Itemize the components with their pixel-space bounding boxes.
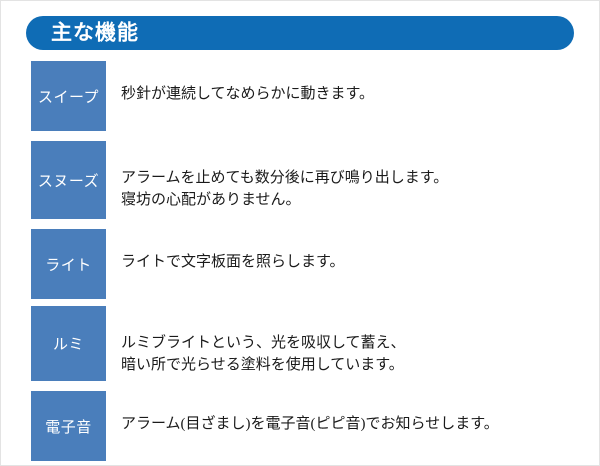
feature-label-badge: ライト (31, 229, 106, 299)
page-title: 主な機能 (51, 23, 139, 44)
feature-row: スイープ秒針が連続してなめらかに動きます。 (1, 61, 600, 141)
feature-label-badge: ルミ (31, 306, 106, 381)
feature-description-line: 秒針が連続してなめらかに動きます。 (121, 83, 581, 105)
feature-label-text: スヌーズ (38, 170, 99, 191)
feature-label-text: 電子音 (45, 416, 92, 437)
feature-label-badge: スイープ (31, 61, 106, 131)
header-banner: 主な機能 (26, 16, 574, 50)
feature-description-line: アラーム(目ざまし)を電子音(ピピ音)でお知らせします。 (121, 413, 581, 435)
feature-list-page: 主な機能 スイープ秒針が連続してなめらかに動きます。スヌーズアラームを止めても数… (0, 0, 600, 466)
feature-description: アラーム(目ざまし)を電子音(ピピ音)でお知らせします。 (121, 413, 581, 435)
feature-description: アラームを止めても数分後に再び鳴り出します。寝坊の心配がありません。 (121, 167, 581, 211)
feature-label-text: ライト (45, 254, 92, 275)
feature-description: ルミブライトという、光を吸収して蓄え、暗い所で光らせる塗料を使用しています。 (121, 332, 581, 376)
feature-row: 電子音アラーム(目ざまし)を電子音(ピピ音)でお知らせします。 (1, 391, 600, 466)
feature-description-line: ルミブライトという、光を吸収して蓄え、 (121, 332, 581, 354)
feature-label-text: ルミ (53, 333, 84, 354)
feature-list: スイープ秒針が連続してなめらかに動きます。スヌーズアラームを止めても数分後に再び… (1, 61, 600, 466)
feature-label-badge: スヌーズ (31, 141, 106, 219)
feature-description-line: アラームを止めても数分後に再び鳴り出します。 (121, 167, 581, 189)
feature-description-line: 寝坊の心配がありません。 (121, 189, 581, 211)
feature-row: ルミルミブライトという、光を吸収して蓄え、暗い所で光らせる塗料を使用しています。 (1, 306, 600, 391)
feature-row: ライトライトで文字板面を照らします。 (1, 229, 600, 306)
feature-label-badge: 電子音 (31, 391, 106, 461)
feature-row: スヌーズアラームを止めても数分後に再び鳴り出します。寝坊の心配がありません。 (1, 141, 600, 229)
feature-description-line: ライトで文字板面を照らします。 (121, 251, 581, 273)
feature-description: 秒針が連続してなめらかに動きます。 (121, 83, 581, 105)
feature-description-line: 暗い所で光らせる塗料を使用しています。 (121, 354, 581, 376)
feature-label-text: スイープ (38, 86, 99, 107)
feature-description: ライトで文字板面を照らします。 (121, 251, 581, 273)
